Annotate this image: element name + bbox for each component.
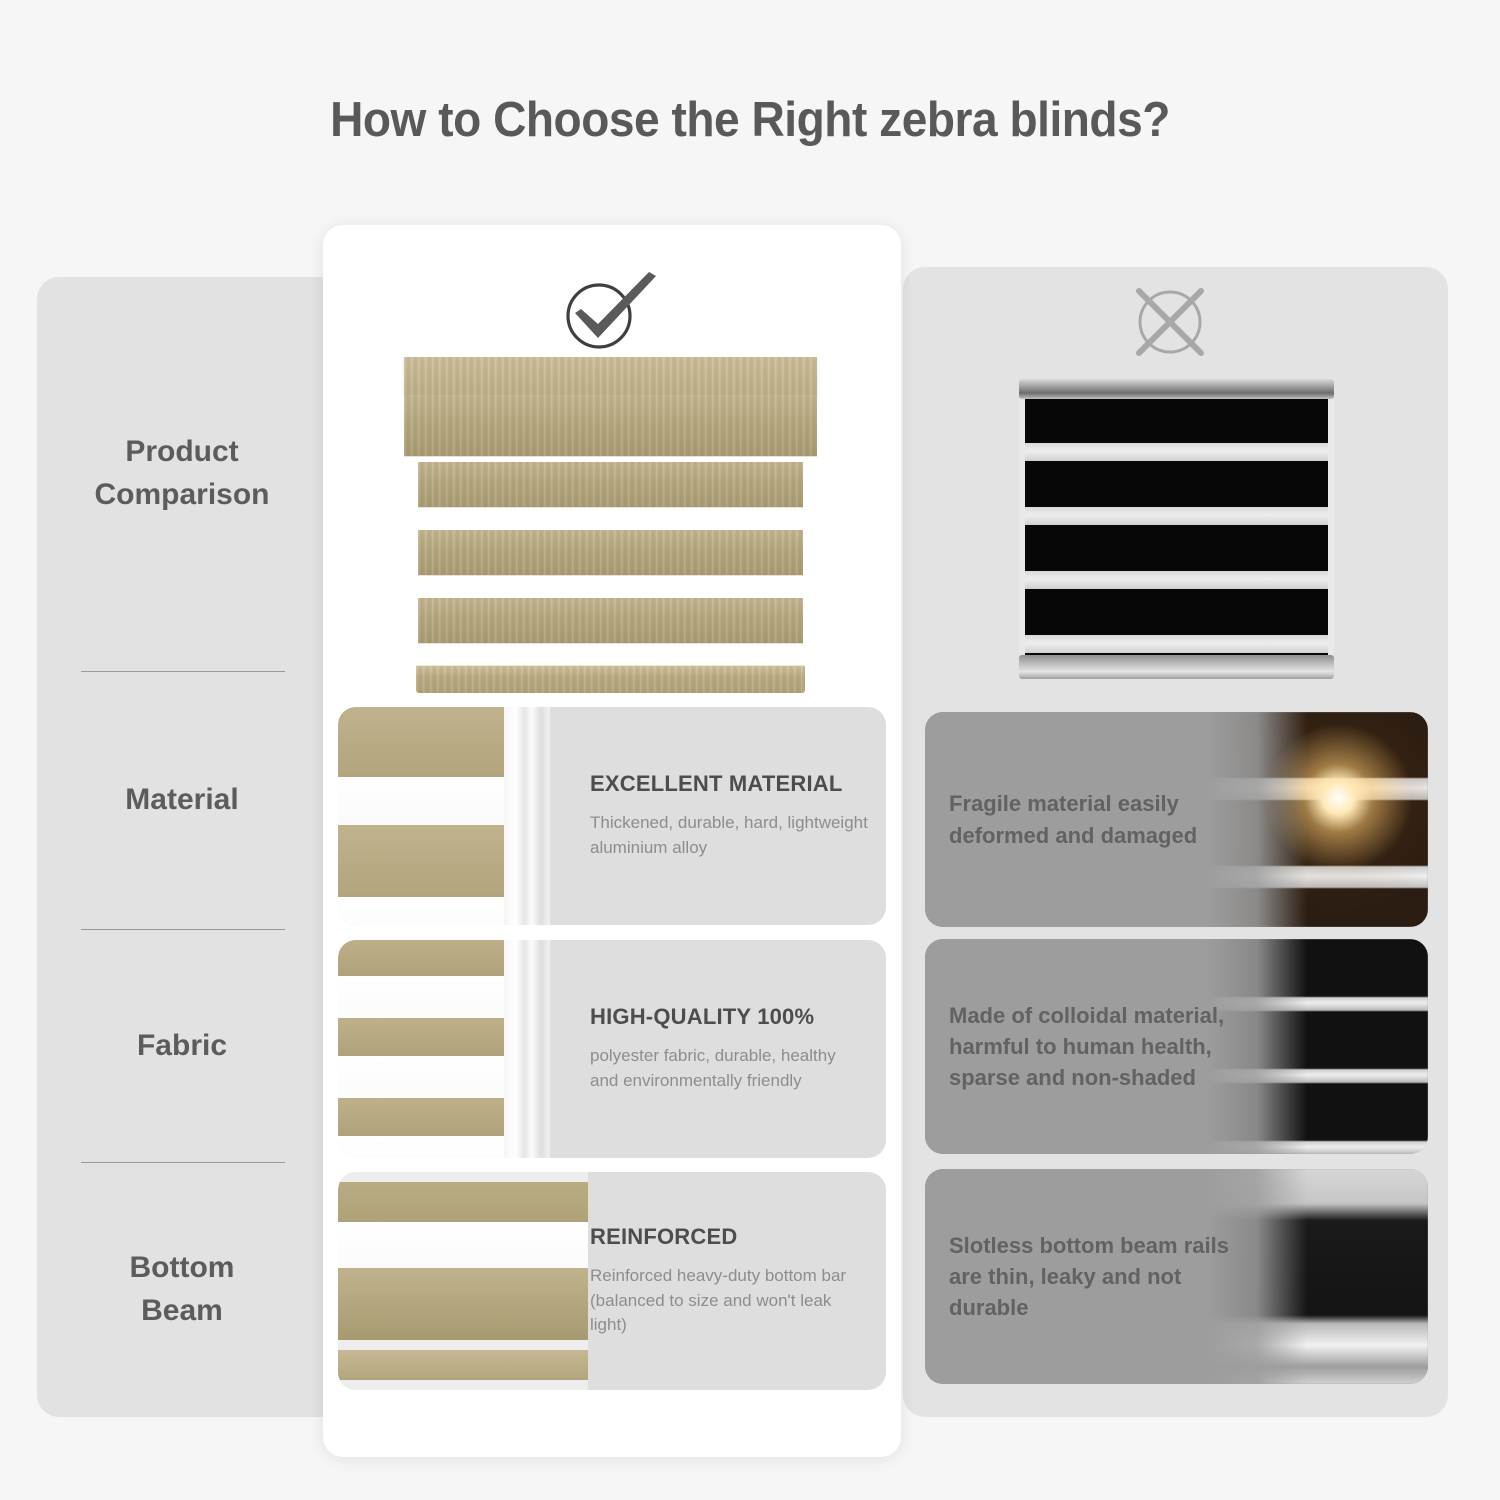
feature-description: Thickened, durable, hard, lightweight al… xyxy=(590,811,868,860)
feature-description: Reinforced heavy-duty bottom bar (balanc… xyxy=(590,1264,868,1338)
feature-title: EXCELLENT MATERIAL xyxy=(590,771,868,797)
good-feature-material[interactable]: EXCELLENT MATERIAL Thickened, durable, h… xyxy=(338,707,886,925)
window-frame xyxy=(504,707,550,925)
good-feature-bottom-beam[interactable]: REINFORCED Reinforced heavy-duty bottom … xyxy=(338,1172,886,1390)
blind-zebra-fabric xyxy=(1025,399,1328,655)
feature-title: HIGH-QUALITY 100% xyxy=(590,1004,868,1030)
good-feature-material-text: EXCELLENT MATERIAL Thickened, durable, h… xyxy=(590,707,868,925)
good-feature-fabric[interactable]: HIGH-QUALITY 100% polyester fabric, dura… xyxy=(338,940,886,1158)
blind-bottom-rail xyxy=(1019,655,1334,679)
row-label-material: Material xyxy=(37,672,327,929)
good-feature-material-image xyxy=(338,707,550,925)
row-label-column: Product Comparison Material Fabric Botto… xyxy=(37,277,327,1417)
row-label-text: Material xyxy=(125,779,238,822)
bad-hero-image xyxy=(1019,379,1334,679)
good-feature-fabric-image xyxy=(338,940,550,1158)
row-label-fabric: Fabric xyxy=(37,930,327,1161)
row-label-text: Product Comparison xyxy=(94,431,269,516)
feature-title: REINFORCED xyxy=(590,1224,868,1250)
check-circle-icon xyxy=(555,272,665,352)
row-label-bottom-beam: Bottom Beam xyxy=(37,1163,327,1417)
feature-description: polyester fabric, durable, healthy and e… xyxy=(590,1044,868,1093)
blind-slat xyxy=(418,462,803,508)
blind-slat xyxy=(418,530,803,576)
blind-bottom-bar xyxy=(416,665,805,693)
good-feature-bottom-beam-text: REINFORCED Reinforced heavy-duty bottom … xyxy=(590,1172,868,1390)
cross-circle-icon xyxy=(1131,283,1209,361)
row-label-text: Fabric xyxy=(137,1025,227,1068)
bad-feature-fabric-text: Made of colloidal material, harmful to h… xyxy=(949,939,1229,1154)
bad-feature-bottom-beam-text: Slotless bottom beam rails are thin, lea… xyxy=(949,1169,1229,1384)
good-hero-image xyxy=(404,357,817,697)
bad-feature-material[interactable]: Fragile material easily deformed and dam… xyxy=(925,712,1428,927)
good-feature-fabric-text: HIGH-QUALITY 100% polyester fabric, dura… xyxy=(590,940,868,1158)
row-label-text: Bottom Beam xyxy=(130,1247,235,1332)
blind-slat xyxy=(404,395,817,457)
good-feature-bottom-beam-image xyxy=(338,1172,588,1390)
bad-feature-material-text: Fragile material easily deformed and dam… xyxy=(949,712,1229,927)
page-title: How to Choose the Right zebra blinds? xyxy=(45,92,1455,148)
window-frame xyxy=(504,940,550,1158)
comparison-infographic: How to Choose the Right zebra blinds? Pr… xyxy=(0,0,1500,1500)
bad-feature-bottom-beam[interactable]: Slotless bottom beam rails are thin, lea… xyxy=(925,1169,1428,1384)
bad-feature-fabric[interactable]: Made of colloidal material, harmful to h… xyxy=(925,939,1428,1154)
blind-slat xyxy=(418,598,803,644)
blind-headrail xyxy=(1019,379,1334,399)
row-label-product-comparison: Product Comparison xyxy=(37,277,327,671)
blind-valance xyxy=(404,357,817,395)
